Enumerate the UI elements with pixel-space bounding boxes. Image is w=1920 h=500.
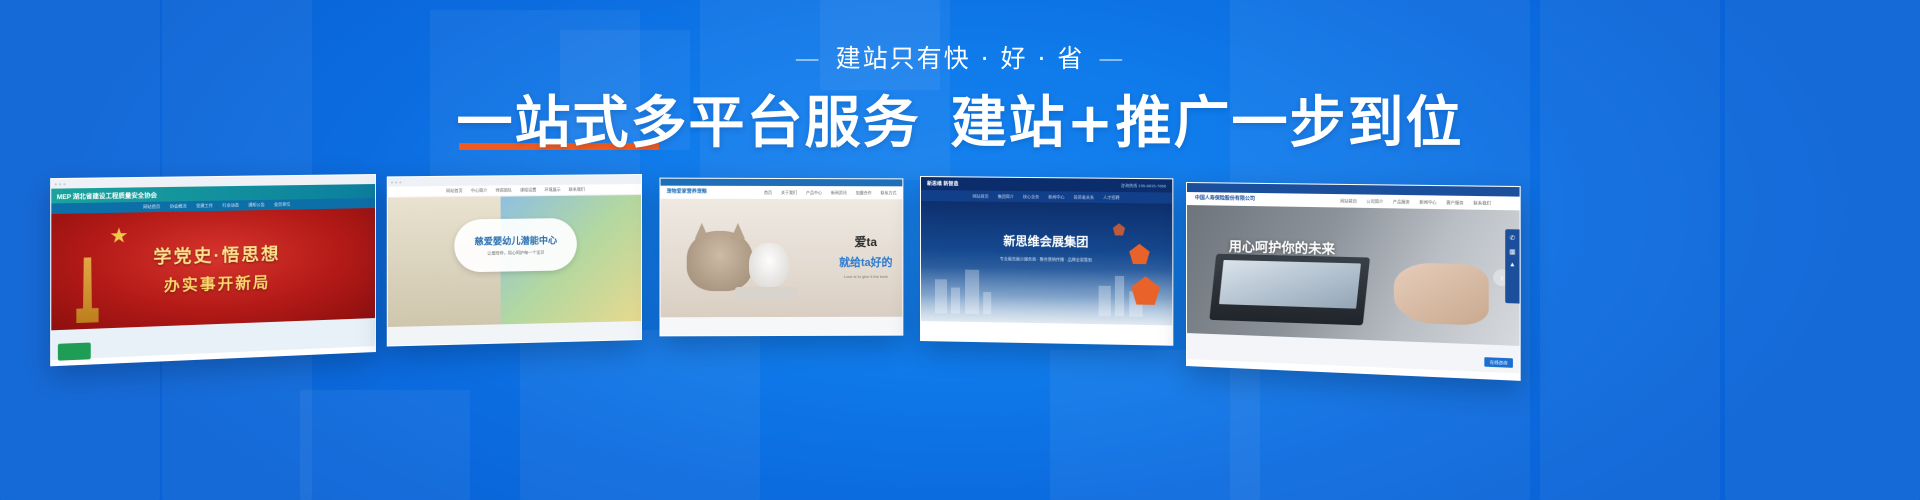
slogan-line2: 就给ta好的 (839, 254, 892, 270)
nav-item[interactable]: 协会概况 (170, 203, 187, 210)
showcase-thumbnail-corporate-group[interactable]: 新思维 新智造 咨询热线 155-8815-7666 网站首页 集团简介 核心业… (920, 176, 1173, 346)
site-nav[interactable]: 宠物爱家营养宠粮 首页 关于我们 产品中心 新闻资讯 加盟合作 联系方式 (661, 186, 903, 200)
website-showcase-strip: MEP 湖北省建设工程质量安全协会 网站首页 协会概况 党建工作 行业动态 通知… (0, 168, 1920, 398)
showcase-thumbnail-insurance[interactable]: 中国人寿保险股份有限公司 网站首页 公司简介 产品服务 新闻中心 客户服务 联系… (1186, 182, 1521, 381)
subtitle-dash-left: — (795, 44, 822, 74)
nav-item[interactable]: 联系我们 (1473, 200, 1490, 207)
site-footer (661, 317, 903, 337)
headline-part-1: 一站式多平台服务 (457, 91, 921, 156)
headline-part-2: 建站+推广一步到位 (951, 91, 1464, 156)
hero-banner: —建站只有快 · 好 · 省— 一站式多平台服务建站+推广一步到位 MEP 湖北… (0, 0, 1920, 500)
showcase-thumbnail-party-history[interactable]: MEP 湖北省建设工程质量安全协会 网站首页 协会概况 党建工作 行业动态 通知… (50, 174, 376, 366)
bubble-title: 慈爱婴幼儿潜能中心 (474, 233, 557, 247)
nav-item[interactable]: 客户服务 (1446, 199, 1463, 206)
nav-item[interactable]: 新闻中心 (1419, 199, 1436, 206)
hero-slogan-line1: 学党史·悟思想 (153, 239, 280, 268)
phone-icon[interactable]: ✆ (1510, 235, 1516, 243)
hero-slogan: 爱ta 就给ta好的 Love is to give it the best (839, 233, 892, 279)
nav-item[interactable]: 联系方式 (881, 190, 897, 196)
hero-banner-red: 学党史·悟思想 办实事开新局 (51, 208, 375, 330)
banner-headline: 一站式多平台服务建站+推广一步到位 (457, 92, 1464, 156)
cat-icon (687, 231, 753, 291)
site-logo-text: MEP 湖北省建设工程质量安全协会 (57, 190, 157, 201)
polygon-decoration (1113, 223, 1125, 235)
nav-item[interactable]: 首页 (764, 189, 772, 195)
nav-item[interactable]: 通知公告 (248, 202, 264, 208)
nav-item[interactable]: 师资团队 (495, 187, 511, 193)
nav-item[interactable]: 加盟合作 (856, 190, 872, 196)
hero-photo-kindergarten: 慈爱婴幼儿潜能中心 让爱陪伴，用心呵护每一个宝贝 (388, 195, 641, 327)
monument-icon (69, 257, 106, 323)
cat-icon (749, 243, 789, 287)
nav-item[interactable]: 网站首页 (1340, 198, 1357, 204)
banner-subtitle: —建站只有快 · 好 · 省— (0, 44, 1920, 74)
nav-item[interactable]: 产品中心 (806, 190, 822, 196)
hero-subtitle: 专业展览展示服务商 · 整合营销传播 · 品牌全案策划 (1000, 256, 1092, 263)
hero-title: 新思维会展集团 (1003, 232, 1088, 250)
nav-item[interactable]: 关于我们 (781, 189, 797, 195)
nav-item[interactable]: 核心业务 (1023, 194, 1039, 200)
hero-slogan: 用心呵护你的未来 (1229, 236, 1335, 258)
headline-block: —建站只有快 · 好 · 省— 一站式多平台服务建站+推广一步到位 (0, 44, 1920, 156)
star-icon (110, 227, 127, 244)
nav-item[interactable]: 课程设置 (520, 187, 536, 193)
subtitle-dash-right: — (1098, 44, 1125, 74)
pet-bowl-icon (735, 287, 797, 299)
speech-bubble: 慈爱婴幼儿潜能中心 让爱陪伴，用心呵护每一个宝贝 (454, 218, 576, 273)
online-consult-button[interactable]: 在线咨询 (1484, 357, 1513, 368)
top-icon[interactable]: ▲ (1509, 262, 1516, 269)
nav-item[interactable]: 党建工作 (196, 203, 213, 209)
hero-photo-cats: 爱ta 就给ta好的 Love is to give it the best (661, 199, 903, 318)
hero-slogan: 学党史·悟思想 办实事开新局 (153, 239, 280, 296)
contact-phone: 咨询热线 155-8815-7666 (1121, 182, 1166, 189)
nav-item[interactable]: 中心简介 (471, 188, 487, 194)
nav-item[interactable]: 新闻中心 (1048, 194, 1064, 200)
slogan-line1: 爱ta (855, 235, 878, 249)
nav-item[interactable]: 联系我们 (569, 187, 585, 193)
nav-item[interactable]: 网站首页 (973, 193, 989, 199)
footer-logo (58, 342, 91, 360)
nav-item[interactable]: 集团简介 (998, 193, 1014, 199)
slogan-english: Love is to give it the best (839, 274, 892, 279)
site-brand: 新思维 新智造 (927, 180, 958, 187)
nav-item[interactable]: 行业动态 (222, 202, 239, 208)
showcase-thumbnail-pet-food[interactable]: 宠物爱家营养宠粮 首页 关于我们 产品中心 新闻资讯 加盟合作 联系方式 爱ta… (659, 178, 903, 337)
nav-item[interactable]: 网站首页 (143, 204, 160, 211)
floating-sidebar[interactable]: ✆ ▦ ▲ (1505, 229, 1519, 303)
hero-slogan-line2: 办实事开新局 (153, 271, 280, 297)
laptop-icon (1209, 254, 1370, 326)
hand-graphic (1394, 262, 1489, 325)
bubble-subtitle: 让爱陪伴，用心呵护每一个宝贝 (487, 250, 544, 257)
nav-item[interactable]: 公司简介 (1366, 198, 1383, 204)
hero-photo-laptop: 用心呵护你的未来 › ✆ ▦ ▲ (1187, 205, 1520, 346)
nav-item[interactable]: 环境展示 (544, 187, 560, 193)
nav-item[interactable]: 网站首页 (446, 188, 463, 194)
nav-item[interactable]: 会员单位 (274, 201, 290, 207)
showcase-thumbnail-kindergarten[interactable]: 网站首页 中心简介 师资团队 课程设置 环境展示 联系我们 慈爱婴幼儿潜能中心 … (387, 174, 642, 347)
subtitle-text: 建站只有快 · 好 · 省 (836, 44, 1085, 73)
hero-photo-city: 新思维会展集团 专业展览展示服务商 · 整合营销传播 · 品牌全案策划 (921, 201, 1172, 325)
qrcode-icon[interactable]: ▦ (1509, 248, 1515, 256)
site-brand: 宠物爱家营养宠粮 (667, 188, 707, 195)
polygon-decoration (1129, 244, 1149, 265)
nav-item[interactable]: 投资者关系 (1074, 194, 1094, 200)
nav-item[interactable]: 新闻资讯 (831, 190, 847, 196)
nav-item[interactable]: 人才招聘 (1103, 194, 1119, 200)
site-brand: 中国人寿保险股份有限公司 (1195, 194, 1255, 202)
nav-item[interactable]: 产品服务 (1393, 198, 1410, 204)
